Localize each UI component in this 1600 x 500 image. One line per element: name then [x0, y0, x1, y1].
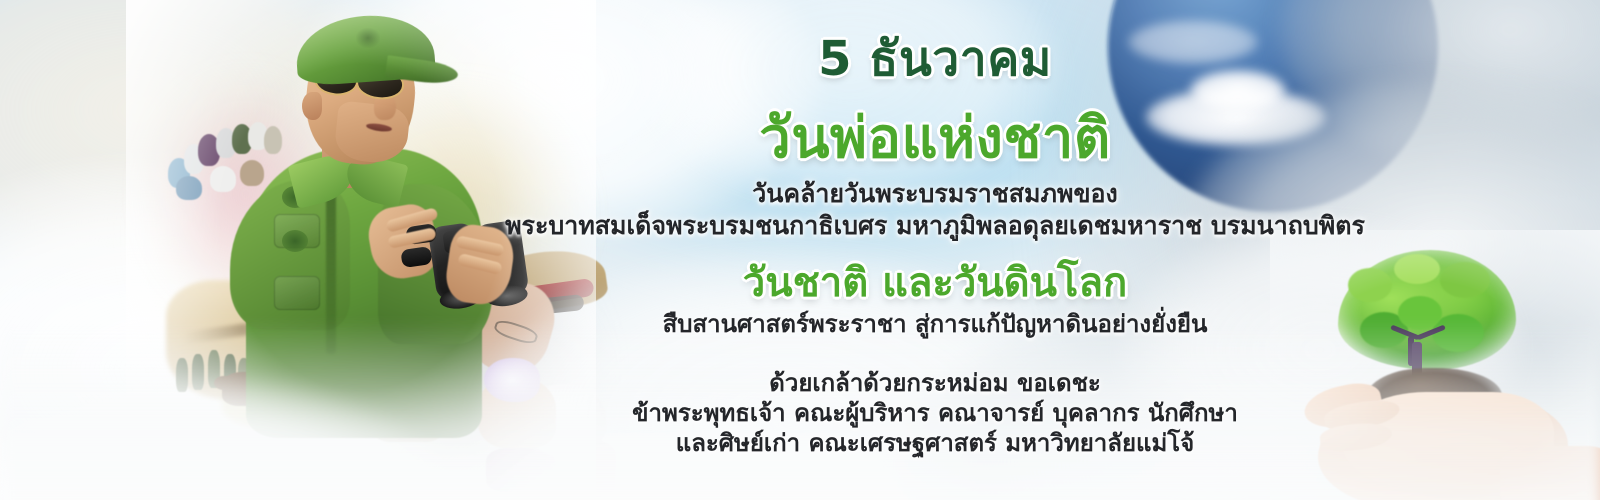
- subtitle-line-1: วันคล้ายวันพระบรมราชสมภพของ: [335, 181, 1535, 207]
- date-heading: 5 ธันวาคม: [335, 34, 1535, 84]
- main-heading: วันพ่อแห่งชาติ: [335, 110, 1535, 169]
- subtitle-line-2: พระบาทสมเด็จพระบรมชนกาธิเบศร มหาภูมิพลอด…: [335, 213, 1535, 239]
- closing-line-1: ด้วยเกล้าด้วยกระหม่อม ขอเดชะ: [335, 371, 1535, 396]
- secondary-subtitle: สืบสานศาสตร์พระราชา สู่การแก้ปัญหาดินอย่…: [335, 312, 1535, 337]
- closing-line-2: ข้าพระพุทธเจ้า คณะผู้บริหาร คณาจารย์ บุค…: [335, 401, 1535, 426]
- closing-line-3: และศิษย์เก่า คณะเศรษฐศาสตร์ มหาวิทยาลัยแ…: [335, 431, 1535, 456]
- national-fathers-day-banner: 5 ธันวาคม วันพ่อแห่งชาติ วันคล้ายวันพระบ…: [0, 0, 1600, 500]
- banner-text-block: 5 ธันวาคม วันพ่อแห่งชาติ วันคล้ายวันพระบ…: [335, 0, 1535, 500]
- secondary-heading: วันชาติ และวันดินโลก: [335, 262, 1535, 304]
